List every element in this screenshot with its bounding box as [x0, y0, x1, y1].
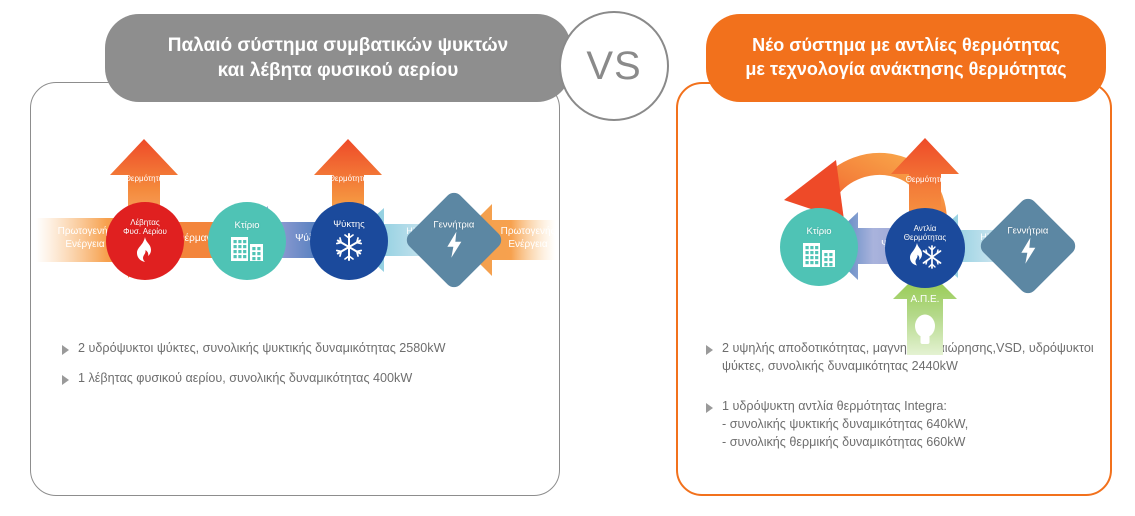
- lightbulb-icon: [910, 312, 940, 346]
- new-system-bullets: 2 υψηλής αποδοτικότητας, μαγνητικής αιώρ…: [706, 340, 1098, 463]
- node-heatpump[interactable]: Αντλία Θερμότητας: [885, 208, 965, 288]
- bullet-text: 2 υδρόψυκτοι ψύκτες, συνολικής ψυκτικής …: [78, 340, 445, 358]
- lightning-icon: [1020, 239, 1036, 265]
- old-system-bullets: 2 υδρόψυκτοι ψύκτες, συνολικής ψυκτικής …: [62, 340, 532, 400]
- heat-arrow-new-label: Θερμότητα: [885, 175, 965, 184]
- left-header-line1: Παλαιό σύστημα συμβατικών ψυκτών: [168, 33, 508, 58]
- vs-label: VS: [586, 44, 641, 89]
- bullet-triangle-icon: [706, 345, 713, 355]
- node-building-label: Κτίριο: [235, 221, 260, 231]
- flame-icon: [133, 237, 157, 263]
- building-icon: [802, 239, 836, 267]
- renewables-arrow-label: Α.Π.Ε.: [889, 294, 961, 305]
- node-building-new-label: Κτίριο: [807, 227, 832, 237]
- flame-snowflake-icon: [907, 243, 943, 271]
- bullet-subline: - συνολικής ψυκτικής δυναμικότητας 640kW…: [722, 416, 968, 434]
- bullet-text: 1 υδρόψυκτη αντλία θερμότητας Integra:: [722, 398, 968, 416]
- bullet-triangle-icon: [706, 403, 713, 413]
- node-chiller-label: Ψύκτης: [333, 220, 365, 230]
- node-boiler[interactable]: Λέβητας Φυσ. Αερίου: [106, 202, 184, 280]
- bullet-text: 1 λέβητας φυσικού αερίου, συνολικής δυνα…: [78, 370, 412, 388]
- left-header-line2: και λέβητα φυσικού αερίου: [168, 58, 508, 83]
- right-header-line1: Νέο σύστημα με αντλίες θερμότητας: [745, 34, 1066, 58]
- node-building-new[interactable]: Κτίριο: [780, 208, 858, 286]
- vs-badge: VS: [559, 11, 669, 121]
- bullet-item: 2 υδρόψυκτοι ψύκτες, συνολικής ψυκτικής …: [62, 340, 532, 358]
- heat-arrow-chiller-label: Θερμότητα: [308, 174, 388, 183]
- right-panel-header: Νέο σύστημα με αντλίες θερμότητας με τεχ…: [706, 14, 1106, 102]
- snowflake-icon: [334, 232, 364, 262]
- node-building[interactable]: Κτίριο: [208, 202, 286, 280]
- left-panel-header: Παλαιό σύστημα συμβατικών ψυκτών και λέβ…: [105, 14, 571, 102]
- bullet-item: 1 λέβητας φυσικού αερίου, συνολικής δυνα…: [62, 370, 532, 388]
- node-chiller[interactable]: Ψύκτης: [310, 202, 388, 280]
- node-generator-label: Γεννήτρια: [433, 221, 474, 231]
- node-generator-new-label: Γεννήτρια: [1007, 227, 1048, 237]
- right-header-line2: με τεχνολογία ανάκτησης θερμότητας: [745, 58, 1066, 82]
- building-icon: [230, 233, 264, 261]
- old-system-diagram: Θερμότητα Θερμότητα Πρωτογενής Ενέργεια …: [36, 140, 556, 300]
- node-boiler-label: Λέβητας Φυσ. Αερίου: [123, 219, 167, 237]
- bullet-triangle-icon: [62, 375, 69, 385]
- bullet-item: 1 υδρόψυκτη αντλία θερμότητας Integra: -…: [706, 398, 1098, 452]
- new-system-diagram: Θερμότητα Α.Π.Ε. Ψύξη Ηλεκτρικό Δίκτυο Κ…: [740, 130, 1110, 345]
- bullet-triangle-icon: [62, 345, 69, 355]
- lightning-icon: [446, 233, 462, 259]
- node-heatpump-label: Αντλία Θερμότητας: [904, 225, 946, 243]
- bullet-subline: - συνολικής θερμικής δυναμικότητας 660kW: [722, 434, 968, 452]
- heat-arrow-boiler-label: Θερμότητα: [104, 174, 184, 183]
